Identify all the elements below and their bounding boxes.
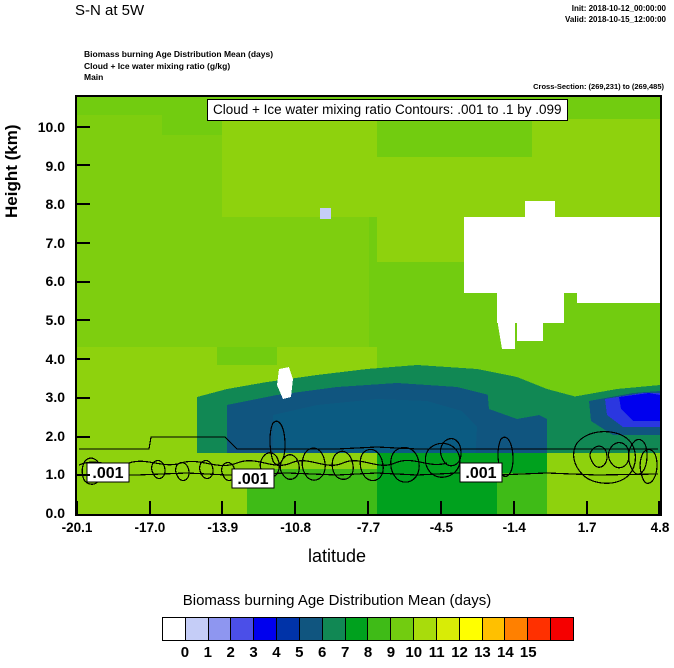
y-tick-6: 6.0 (5, 273, 65, 289)
y-tick-4: 4.0 (5, 351, 65, 367)
colorbar (162, 617, 574, 641)
x-tick-7: 1.7 (578, 520, 597, 535)
x-tick-3: -10.8 (280, 520, 311, 535)
colorbar-tick-9: 9 (387, 644, 395, 661)
colorbar-tick-7: 7 (341, 644, 349, 661)
cross-section-coords: Cross-Section: (269,231) to (269,485) (533, 82, 664, 91)
colorbar-tick-3: 3 (249, 644, 257, 661)
contour-label-center: .001 (237, 471, 268, 488)
colorbar-tick-6: 6 (318, 644, 326, 661)
subtitle-domain-line: Main (84, 72, 273, 84)
colorbar-title: Biomass burning Age Distribution Mean (d… (0, 592, 674, 609)
colorbar-swatch-16 (528, 618, 551, 640)
colorbar-tick-1: 1 (204, 644, 212, 661)
colorbar-swatch-9 (368, 618, 391, 640)
colorbar-tick-labels: 0123456789101112131415 (162, 644, 574, 666)
subtitle-block: Biomass burning Age Distribution Mean (d… (84, 49, 273, 84)
colorbar-swatch-10 (391, 618, 414, 640)
colorbar-tick-15: 15 (520, 644, 537, 661)
colorbar-swatch-2 (209, 618, 232, 640)
colorbar-swatch-8 (346, 618, 369, 640)
colorbar-swatch-17 (551, 618, 573, 640)
init-time: Init: 2018-10-12_00:00:00 (565, 3, 666, 14)
y-tick-2: 2.0 (5, 428, 65, 444)
contour-label-right: .001 (465, 465, 496, 482)
x-tick-4: -7.7 (357, 520, 380, 535)
colorbar-tick-5: 5 (295, 644, 303, 661)
region-surface-far-right-10days (547, 471, 660, 514)
run-info: Init: 2018-10-12_00:00:00 Valid: 2018-10… (565, 3, 666, 25)
y-tick-5: 5.0 (5, 312, 65, 328)
region-cloud-notch (464, 252, 489, 275)
colorbar-swatch-11 (414, 618, 437, 640)
colorbar-swatch-3 (231, 618, 254, 640)
colorbar-swatch-12 (437, 618, 460, 640)
y-tick-3: 3.0 (5, 389, 65, 405)
x-tick-1: -17.0 (134, 520, 165, 535)
subtitle-field-line: Biomass burning Age Distribution Mean (d… (84, 49, 273, 61)
colorbar-tick-2: 2 (226, 644, 234, 661)
region-surface-right-8days (497, 469, 547, 514)
subtitle-contour-line: Cloud + Ice water mixing ratio (g/kg) (84, 61, 273, 73)
colorbar-tick-4: 4 (272, 644, 280, 661)
colorbar-tick-10: 10 (405, 644, 422, 661)
colorbar-swatch-6 (300, 618, 323, 640)
colorbar-tick-13: 13 (474, 644, 491, 661)
x-axis-label: latitude (0, 546, 674, 567)
colorbar-swatch-1 (186, 618, 209, 640)
colorbar-swatch-7 (323, 618, 346, 640)
page-title: S-N at 5W (75, 2, 144, 19)
valid-time: Valid: 2018-10-15_12:00:00 (565, 14, 666, 25)
colorbar-tick-0: 0 (181, 644, 189, 661)
y-tick-0: 0.0 (5, 505, 65, 521)
region-cloud-right (577, 267, 660, 303)
cross-section-plot: .001 .001 .001 (75, 95, 662, 516)
y-tick-7: 7.0 (5, 235, 65, 251)
colorbar-tick-14: 14 (497, 644, 514, 661)
colorbar-swatch-4 (254, 618, 277, 640)
colorbar-swatch-15 (505, 618, 528, 640)
colorbar-swatch-5 (277, 618, 300, 640)
x-tick-6: -1.4 (503, 520, 526, 535)
contour-title-box: Cloud + Ice water mixing ratio Contours:… (207, 99, 568, 121)
colorbar-tick-12: 12 (451, 644, 468, 661)
contour-label-left: .001 (92, 465, 123, 482)
colorbar-tick-8: 8 (364, 644, 372, 661)
contour-field: .001 .001 .001 (77, 97, 660, 514)
x-tick-5: -4.5 (430, 520, 453, 535)
x-tick-0: -20.1 (62, 520, 93, 535)
colorbar-swatch-14 (483, 618, 506, 640)
artifact-pixel (320, 208, 331, 219)
colorbar-swatch-13 (460, 618, 483, 640)
y-axis-label: Height (km) (2, 125, 22, 219)
colorbar-tick-11: 11 (429, 644, 445, 661)
y-tick-1: 1.0 (5, 466, 65, 482)
x-tick-8: 4.8 (651, 520, 670, 535)
region-bl-left-10days (77, 397, 197, 453)
x-tick-2: -13.9 (207, 520, 238, 535)
colorbar-swatch-0 (163, 618, 186, 640)
